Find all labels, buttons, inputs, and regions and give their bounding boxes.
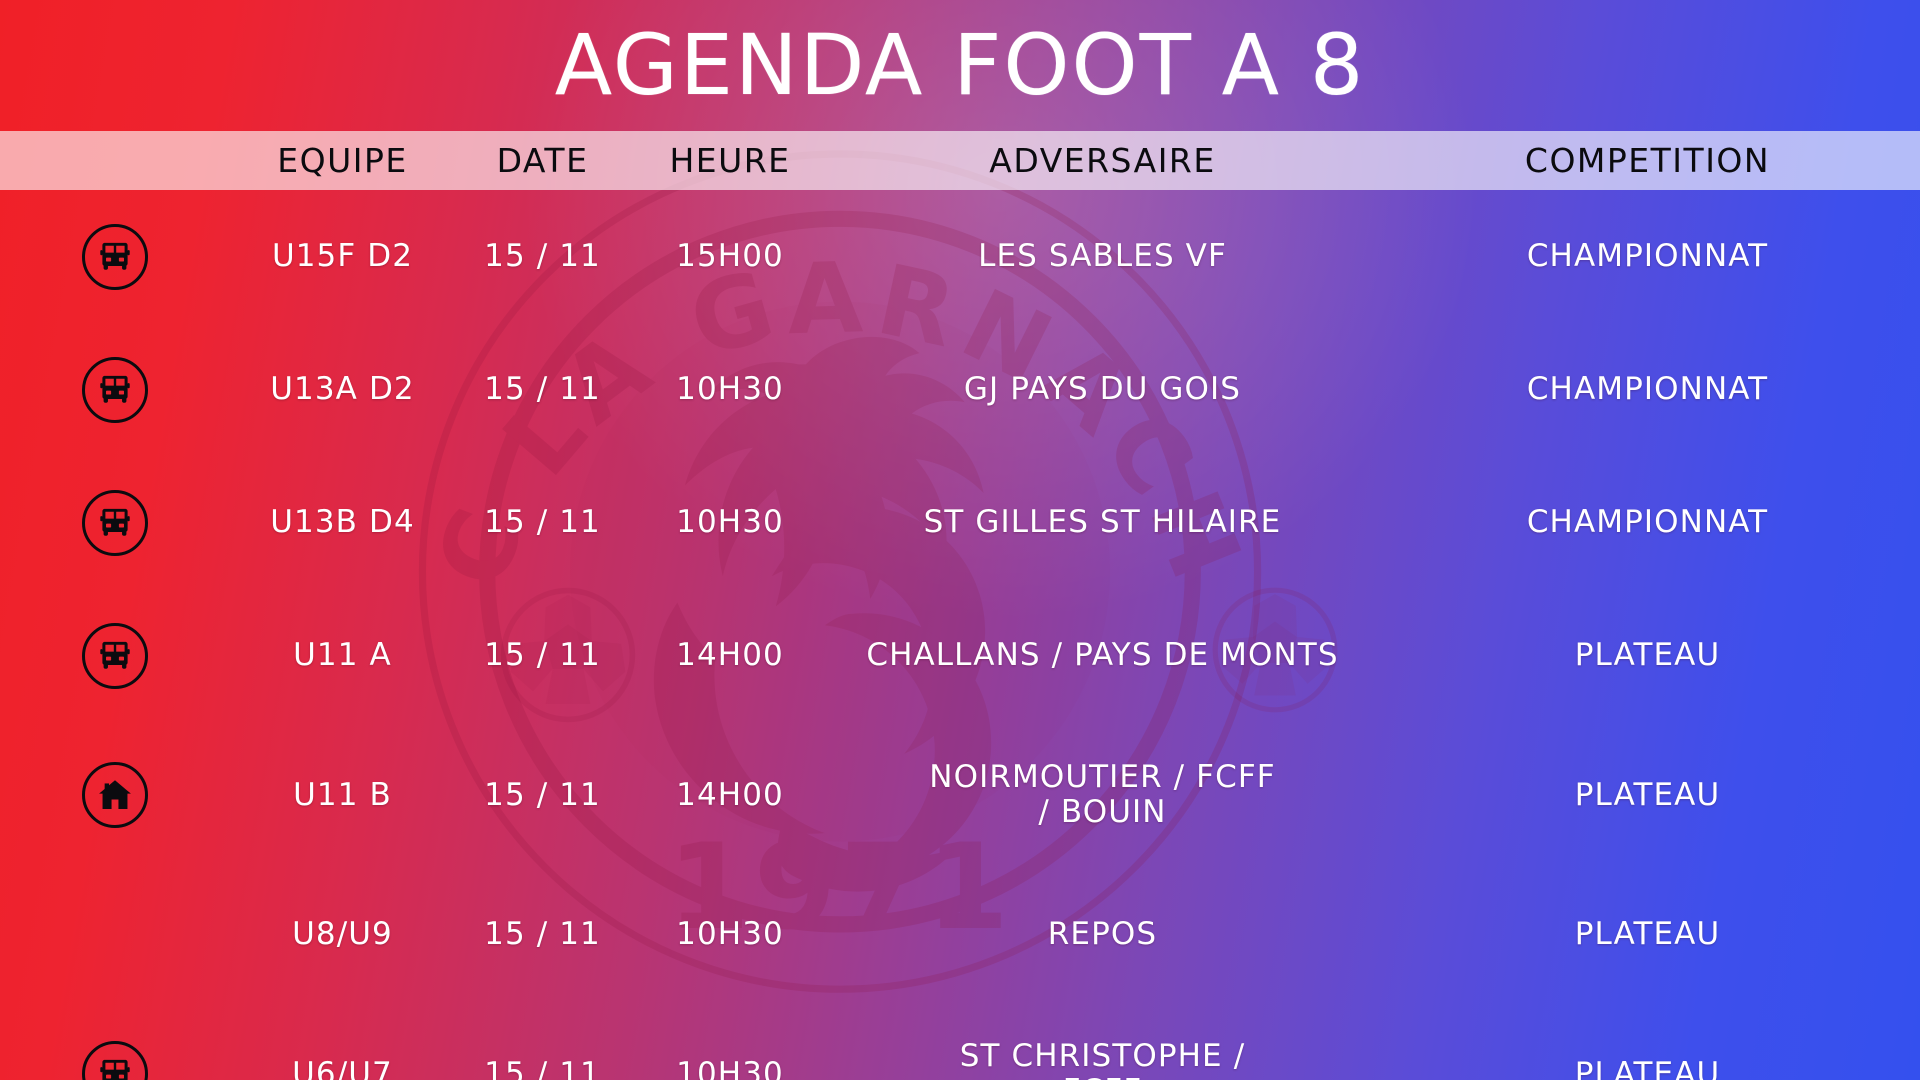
row-venue-icon-cell — [0, 902, 230, 968]
column-header-heure: HEURE — [630, 141, 830, 180]
row-venue-icon-cell — [0, 623, 230, 689]
match-table-body: U15F D215 / 1115H00LES SABLES VFCHAMPION… — [0, 190, 1920, 1080]
row-equipe: U11 A — [230, 638, 455, 673]
row-equipe: U13A D2 — [230, 372, 455, 407]
row-competition: CHAMPIONNAT — [1375, 505, 1920, 540]
row-competition: PLATEAU — [1375, 1057, 1920, 1080]
row-equipe: U13B D4 — [230, 505, 455, 540]
row-date: 15 / 11 — [455, 778, 630, 813]
row-adversaire: REPOS — [830, 917, 1375, 952]
home-icon — [82, 762, 148, 828]
row-competition: PLATEAU — [1375, 917, 1920, 952]
row-heure: 10H30 — [630, 505, 830, 540]
row-equipe: U15F D2 — [230, 239, 455, 274]
row-date: 15 / 11 — [455, 372, 630, 407]
row-adversaire: ST GILLES ST HILAIRE — [830, 505, 1375, 540]
row-adversaire: GJ PAYS DU GOIS — [830, 372, 1375, 407]
row-heure: 10H30 — [630, 917, 830, 952]
row-equipe: U11 B — [230, 778, 455, 813]
row-heure: 10H30 — [630, 372, 830, 407]
row-date: 15 / 11 — [455, 917, 630, 952]
row-heure: 15H00 — [630, 239, 830, 274]
column-header-equipe: EQUIPE — [230, 141, 455, 180]
table-row: U15F D215 / 1115H00LES SABLES VFCHAMPION… — [0, 190, 1920, 323]
row-adversaire: CHALLANS / PAYS DE MONTS — [830, 638, 1375, 673]
row-competition: PLATEAU — [1375, 638, 1920, 673]
row-venue-icon-cell — [0, 357, 230, 423]
row-competition: CHAMPIONNAT — [1375, 372, 1920, 407]
row-venue-icon-cell — [0, 224, 230, 290]
row-competition: PLATEAU — [1375, 778, 1920, 813]
bus-icon — [82, 623, 148, 689]
no-venue-icon — [82, 902, 148, 968]
bus-icon — [82, 490, 148, 556]
table-row: U6/U715 / 1110H30ST CHRISTOPHE / FCFFPLA… — [0, 1001, 1920, 1080]
column-header-date: DATE — [455, 141, 630, 180]
row-date: 15 / 11 — [455, 239, 630, 274]
row-heure: 14H00 — [630, 778, 830, 813]
table-row: U11 B15 / 1114H00NOIRMOUTIER / FCFF / BO… — [0, 722, 1920, 868]
table-row: U11 A15 / 1114H00CHALLANS / PAYS DE MONT… — [0, 589, 1920, 722]
row-adversaire: LES SABLES VF — [830, 239, 1375, 274]
bus-icon — [82, 1041, 148, 1080]
row-equipe: U8/U9 — [230, 917, 455, 952]
row-venue-icon-cell — [0, 762, 230, 828]
agenda-poster: FC LA GARNACHE 1971 — [0, 0, 1920, 1080]
row-heure: 14H00 — [630, 638, 830, 673]
bus-icon — [82, 224, 148, 290]
table-header-row: EQUIPE DATE HEURE ADVERSAIRE COMPETITION — [0, 131, 1920, 190]
table-row: U8/U915 / 1110H30REPOSPLATEAU — [0, 868, 1920, 1001]
row-adversaire: ST CHRISTOPHE / FCFF — [830, 1039, 1375, 1080]
table-row: U13A D215 / 1110H30GJ PAYS DU GOISCHAMPI… — [0, 323, 1920, 456]
row-date: 15 / 11 — [455, 505, 630, 540]
row-adversaire: NOIRMOUTIER / FCFF / BOUIN — [830, 760, 1375, 829]
page-title: AGENDA FOOT A 8 — [0, 6, 1920, 124]
row-equipe: U6/U7 — [230, 1057, 455, 1080]
table-row: U13B D415 / 1110H30ST GILLES ST HILAIREC… — [0, 456, 1920, 589]
row-venue-icon-cell — [0, 490, 230, 556]
column-header-adversaire: ADVERSAIRE — [830, 141, 1375, 180]
row-date: 15 / 11 — [455, 638, 630, 673]
row-heure: 10H30 — [630, 1057, 830, 1080]
bus-icon — [82, 357, 148, 423]
row-competition: CHAMPIONNAT — [1375, 239, 1920, 274]
row-date: 15 / 11 — [455, 1057, 630, 1080]
column-header-competition: COMPETITION — [1375, 141, 1920, 180]
row-venue-icon-cell — [0, 1041, 230, 1080]
